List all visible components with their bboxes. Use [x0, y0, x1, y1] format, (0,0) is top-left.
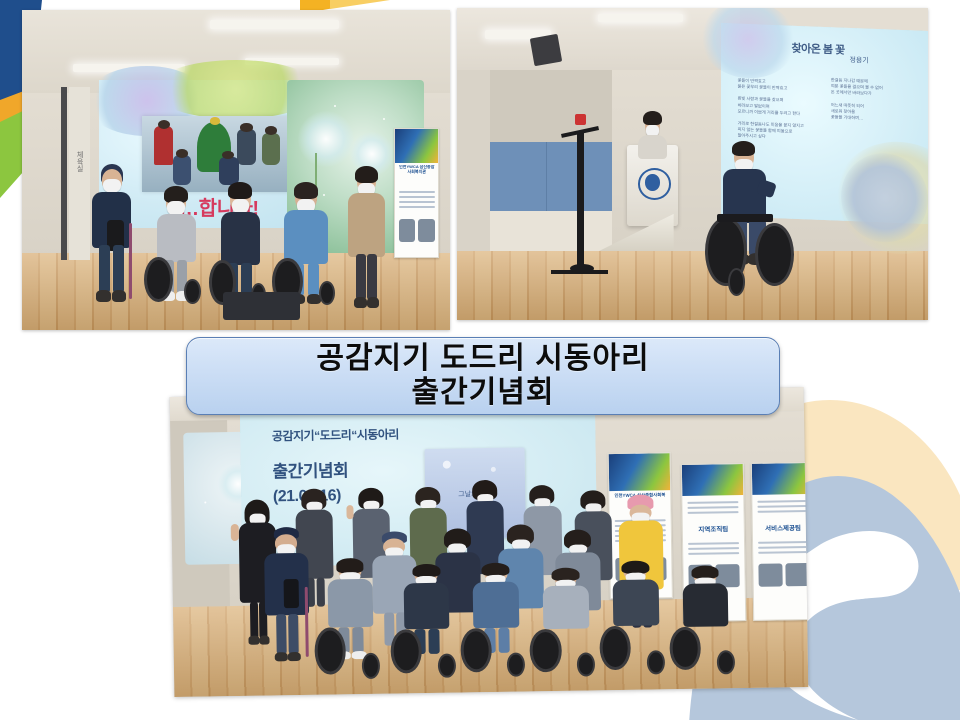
poem-author: 정용기	[849, 55, 868, 66]
photo-top-right: 찾아온 봄 꽃 정용기 꽃들이 반짝효고 붉은 꽃무리 꽃들이 반짝효고 흰빛 …	[457, 8, 928, 320]
title-line-1: 공감지기 도드리 시동아리	[316, 342, 649, 376]
banner-service-team: 서비스제공팀	[751, 462, 808, 621]
poem-title: 찾아온 봄 꽃	[791, 39, 844, 57]
ceremony-screen-line1: 공감지기“도드리“시동아리	[272, 426, 399, 445]
microphone-stand	[577, 133, 584, 270]
poem-text-right: 한걸음 지나감 때문에 여분 꽃들을 걸으며 볼 수 없어 온 곳에서만 바라보…	[831, 77, 914, 123]
banner-region-team-title: 지역조직팀	[683, 523, 743, 534]
ceremony-screen-line2: 출간기념회	[272, 456, 348, 482]
photo1-banner-title: 인천YWCA 삼산종합사회복지관	[395, 165, 438, 175]
title-line-2: 출간기념회	[412, 376, 555, 410]
photo-top-left: 체육실	[22, 10, 450, 330]
title-box: 공감지기 도드리 시동아리 출간기념회	[186, 337, 780, 415]
photo-bottom-group: 공감지기“도드리“시동아리 출간기념회 (21.04.16) 그날의 초면 인천…	[170, 387, 809, 697]
slide-canvas: 체육실	[0, 0, 960, 720]
poem-text-left: 꽃들이 반짝효고 붉은 꽃무리 꽃들이 반짝효고 흰빛 사람과 꽃들을 찾으며 …	[737, 78, 816, 142]
photo1-banner: 인천YWCA 삼산종합사회복지관	[394, 128, 439, 258]
banner-service-team-title: 서비스제공팀	[753, 522, 808, 533]
wheelchair-presenter	[711, 145, 786, 295]
decor-top-wedge-light	[330, 0, 470, 10]
